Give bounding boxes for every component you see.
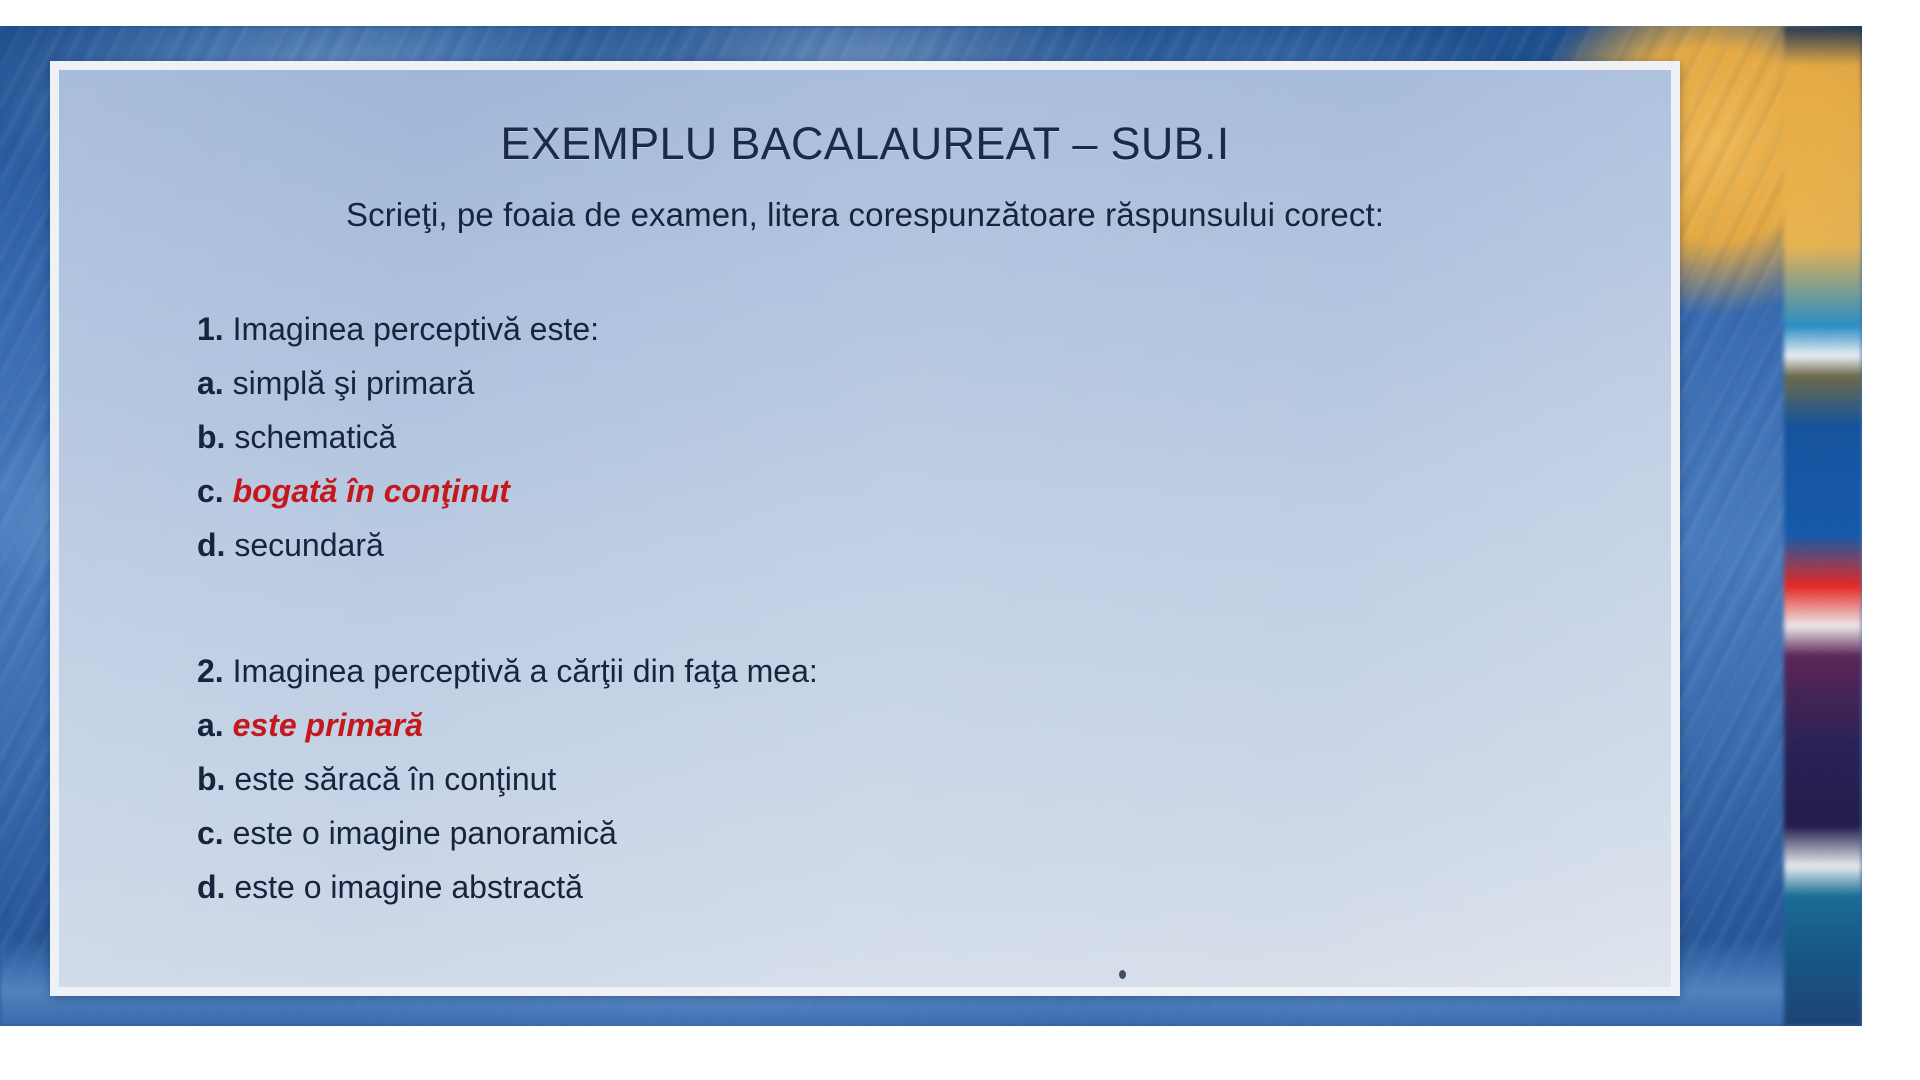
slide-surface: EXEMPLU BACALAUREAT – SUB.I Scrieţi, pe … xyxy=(59,70,1671,987)
question-2-option-b[interactable]: b. este săracă în conţinut xyxy=(197,752,1497,806)
question-2-option-b-letter: b. xyxy=(197,761,225,797)
video-noise-speck xyxy=(1119,970,1126,979)
question-1-stem-text: Imaginea perceptivă este: xyxy=(233,311,599,347)
question-2-option-b-text: este săracă în conţinut xyxy=(234,761,556,797)
question-2-option-d-letter: d. xyxy=(197,869,225,905)
question-2-option-c-text: este o imagine panoramică xyxy=(233,815,617,851)
question-1-option-c-text: bogată în conţinut xyxy=(233,473,510,509)
question-1-option-d[interactable]: d. secundară xyxy=(197,518,1497,572)
question-2-option-a[interactable]: a. este primară xyxy=(197,698,1497,752)
question-block-1: 1. Imaginea perceptivă este: a. simplă ş… xyxy=(197,302,1497,572)
slide-instruction: Scrieţi, pe foaia de examen, litera core… xyxy=(59,196,1671,234)
screenshot-stage: EXEMPLU BACALAUREAT – SUB.I Scrieţi, pe … xyxy=(0,0,1920,1080)
video-frame: EXEMPLU BACALAUREAT – SUB.I Scrieţi, pe … xyxy=(0,26,1862,1026)
question-2-option-d-text: este o imagine abstractă xyxy=(234,869,583,905)
question-block-2: 2. Imaginea perceptivă a cărţii din faţa… xyxy=(197,644,1497,914)
slide-title: EXEMPLU BACALAUREAT – SUB.I xyxy=(59,118,1671,170)
question-1-option-a-text: simplă şi primară xyxy=(233,365,475,401)
question-1-option-b-letter: b. xyxy=(197,419,225,455)
question-2-option-a-text: este primară xyxy=(233,707,423,743)
question-2-option-c-letter: c. xyxy=(197,815,224,851)
question-1-option-a-letter: a. xyxy=(197,365,224,401)
question-1-option-a[interactable]: a. simplă şi primară xyxy=(197,356,1497,410)
question-1-number: 1. xyxy=(197,311,224,347)
question-1-option-b[interactable]: b. schematică xyxy=(197,410,1497,464)
question-1-option-c[interactable]: c. bogată în conţinut xyxy=(197,464,1497,518)
question-1-option-c-letter: c. xyxy=(197,473,224,509)
question-1-option-d-letter: d. xyxy=(197,527,225,563)
question-2-stem: 2. Imaginea perceptivă a cărţii din faţa… xyxy=(197,644,1497,698)
question-2-option-a-letter: a. xyxy=(197,707,224,743)
slide-frame: EXEMPLU BACALAUREAT – SUB.I Scrieţi, pe … xyxy=(50,61,1680,996)
question-2-stem-text: Imaginea perceptivă a cărţii din faţa me… xyxy=(233,653,818,689)
question-2-option-d[interactable]: d. este o imagine abstractă xyxy=(197,860,1497,914)
backdrop-right-color-bands xyxy=(1784,26,1862,1026)
question-1-stem: 1. Imaginea perceptivă este: xyxy=(197,302,1497,356)
question-1-option-d-text: secundară xyxy=(234,527,383,563)
question-2-number: 2. xyxy=(197,653,224,689)
slide-content: EXEMPLU BACALAUREAT – SUB.I Scrieţi, pe … xyxy=(59,70,1671,987)
question-2-option-c[interactable]: c. este o imagine panoramică xyxy=(197,806,1497,860)
question-1-option-b-text: schematică xyxy=(234,419,396,455)
